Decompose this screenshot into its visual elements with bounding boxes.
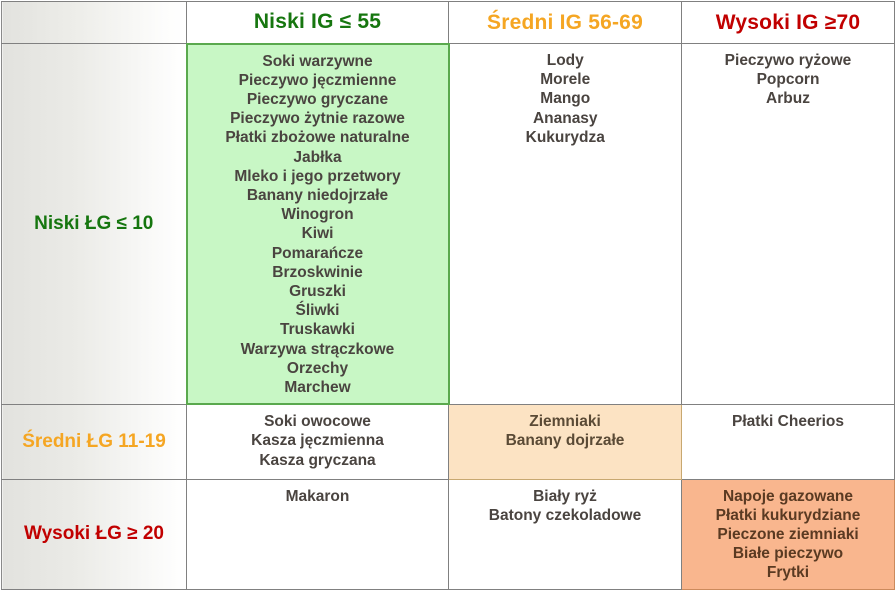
list-item: Warzywa strączkowe bbox=[194, 340, 442, 359]
list-item: Makaron bbox=[193, 487, 442, 506]
column-header-high-gi: Wysoki IG ≥70 bbox=[682, 2, 895, 44]
list-item: Gruszki bbox=[194, 282, 442, 301]
list-item: Lody bbox=[456, 51, 676, 70]
table-cell-high-gl-medium-gi: Biały ryż Batony czekoladowe bbox=[449, 479, 682, 589]
cell-content: Pieczywo ryżowe Popcorn Arbuz bbox=[682, 44, 894, 115]
table-row: Średni ŁG 11-19 Soki owocowe Kasza jęczm… bbox=[2, 404, 895, 479]
list-item: Batony czekoladowe bbox=[455, 506, 675, 525]
list-item: Ziemniaki bbox=[455, 412, 675, 431]
list-item: Mango bbox=[456, 89, 676, 108]
list-item: Soki owocowe bbox=[193, 412, 442, 431]
row-header-high-gl: Wysoki ŁG ≥ 20 bbox=[2, 479, 187, 589]
row-header-medium-gl: Średni ŁG 11-19 bbox=[2, 404, 187, 479]
list-item: Frytki bbox=[688, 563, 888, 582]
list-item: Białe pieczywo bbox=[688, 544, 888, 563]
cell-content: Ziemniaki Banany dojrzałe bbox=[449, 405, 681, 456]
glycemic-index-load-table-container: Niski IG ≤ 55 Średni IG 56-69 Wysoki IG … bbox=[0, 1, 895, 577]
table-header-row: Niski IG ≤ 55 Średni IG 56-69 Wysoki IG … bbox=[2, 2, 895, 44]
cell-content: Lody Morele Mango Ananasy Kukurydza bbox=[450, 44, 682, 153]
table-cell-low-gl-low-gi: Soki warzywne Pieczywo jęczmienne Pieczy… bbox=[187, 44, 449, 405]
list-item: Napoje gazowane bbox=[688, 487, 888, 506]
list-item: Winogron bbox=[194, 205, 442, 224]
list-item: Kasza jęczmienna bbox=[193, 431, 442, 450]
table-cell-medium-gl-medium-gi: Ziemniaki Banany dojrzałe bbox=[449, 404, 682, 479]
list-item: Jabłka bbox=[194, 148, 442, 167]
list-item: Pomarańcze bbox=[194, 244, 442, 263]
list-item: Pieczywo jęczmienne bbox=[194, 71, 442, 90]
list-item: Śliwki bbox=[194, 301, 442, 320]
list-item: Truskawki bbox=[194, 320, 442, 339]
table-corner-cell bbox=[2, 2, 187, 44]
table-row: Niski ŁG ≤ 10 Soki warzywne Pieczywo jęc… bbox=[2, 44, 895, 405]
list-item: Popcorn bbox=[688, 70, 888, 89]
list-item: Orzechy bbox=[194, 359, 442, 378]
list-item: Biały ryż bbox=[455, 487, 675, 506]
cell-content: Biały ryż Batony czekoladowe bbox=[449, 480, 681, 531]
table-cell-high-gl-high-gi: Napoje gazowane Płatki kukurydziane Piec… bbox=[682, 479, 895, 589]
list-item: Mleko i jego przetwory bbox=[194, 167, 442, 186]
list-item: Pieczone ziemniaki bbox=[688, 525, 888, 544]
list-item: Brzoskwinie bbox=[194, 263, 442, 282]
list-item: Kukurydza bbox=[456, 128, 676, 147]
table-cell-medium-gl-low-gi: Soki owocowe Kasza jęczmienna Kasza gryc… bbox=[187, 404, 449, 479]
cell-content: Płatki Cheerios bbox=[682, 405, 894, 437]
cell-content: Soki warzywne Pieczywo jęczmienne Pieczy… bbox=[188, 45, 448, 404]
table-row: Wysoki ŁG ≥ 20 Makaron Biały ryż Batony … bbox=[2, 479, 895, 589]
table-cell-high-gl-low-gi: Makaron bbox=[187, 479, 449, 589]
column-header-low-gi: Niski IG ≤ 55 bbox=[187, 2, 449, 44]
row-header-low-gl: Niski ŁG ≤ 10 bbox=[2, 44, 187, 405]
cell-content: Soki owocowe Kasza jęczmienna Kasza gryc… bbox=[187, 405, 448, 476]
glycemic-index-load-table: Niski IG ≤ 55 Średni IG 56-69 Wysoki IG … bbox=[1, 1, 895, 590]
list-item: Banany dojrzałe bbox=[455, 431, 675, 450]
list-item: Pieczywo żytnie razowe bbox=[194, 109, 442, 128]
table-cell-low-gl-medium-gi: Lody Morele Mango Ananasy Kukurydza bbox=[449, 44, 682, 405]
table-cell-low-gl-high-gi: Pieczywo ryżowe Popcorn Arbuz bbox=[682, 44, 895, 405]
list-item: Morele bbox=[456, 70, 676, 89]
list-item: Pieczywo ryżowe bbox=[688, 51, 888, 70]
list-item: Kasza gryczana bbox=[193, 451, 442, 470]
list-item: Kiwi bbox=[194, 224, 442, 243]
table-cell-medium-gl-high-gi: Płatki Cheerios bbox=[682, 404, 895, 479]
list-item: Pieczywo gryczane bbox=[194, 90, 442, 109]
list-item: Płatki Cheerios bbox=[688, 412, 888, 431]
cell-content: Makaron bbox=[187, 480, 448, 512]
list-item: Arbuz bbox=[688, 89, 888, 108]
list-item: Ananasy bbox=[456, 109, 676, 128]
column-header-medium-gi: Średni IG 56-69 bbox=[449, 2, 682, 44]
list-item: Banany niedojrzałe bbox=[194, 186, 442, 205]
cell-content: Napoje gazowane Płatki kukurydziane Piec… bbox=[682, 480, 894, 589]
list-item: Soki warzywne bbox=[194, 52, 442, 71]
list-item: Płatki kukurydziane bbox=[688, 506, 888, 525]
list-item: Marchew bbox=[194, 378, 442, 397]
list-item: Płatki zbożowe naturalne bbox=[194, 128, 442, 147]
